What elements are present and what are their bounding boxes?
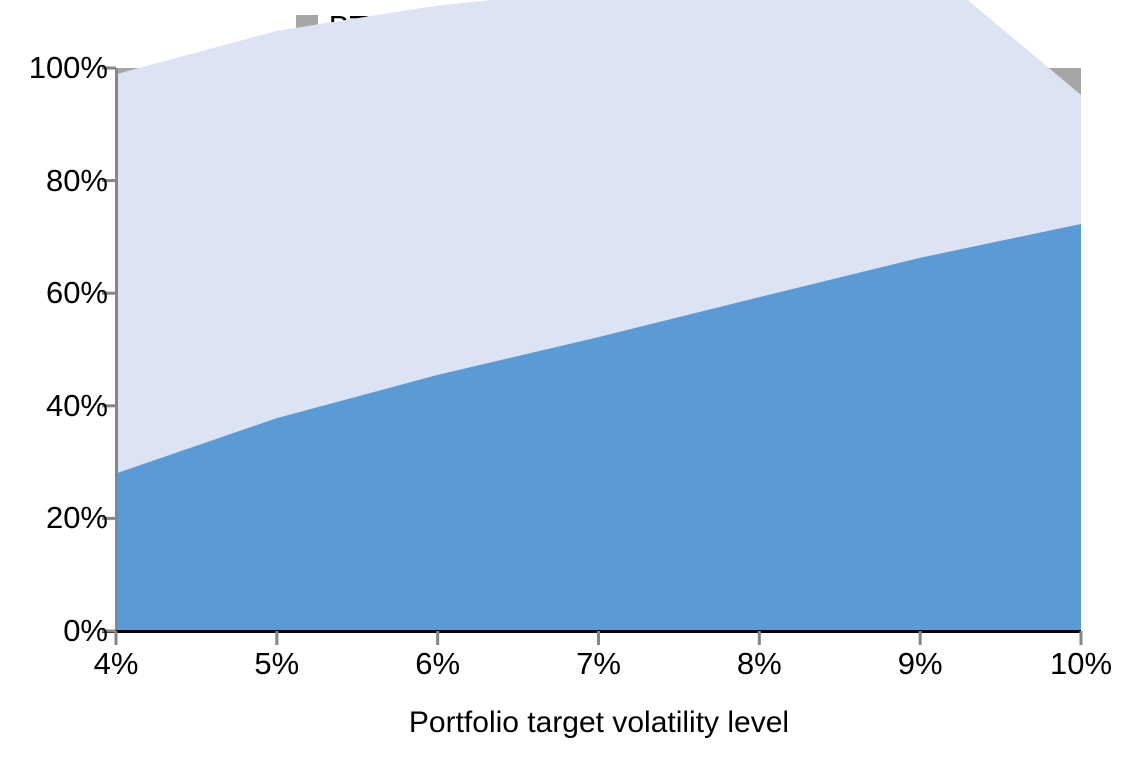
chart-container: BTC USTs US Equities 100%80%60%40%20% (0, 0, 1141, 763)
x-axis-tick-label: 8% (699, 648, 819, 679)
y-axis-tick-label: 0% (0, 615, 108, 646)
y-axis-tick-label: 40% (0, 390, 108, 421)
x-axis-title: Portfolio target volatility level (116, 706, 1082, 740)
x-axis-tick-label: 7% (539, 648, 659, 679)
x-axis-tick-label: 6% (378, 648, 498, 679)
y-axis-tick-label: 20% (0, 502, 108, 533)
x-axis-ticks (116, 631, 1081, 645)
plot-area: 100%80%60%40%20%0% 4%5%6%7%8%9%10% Portf… (0, 0, 1141, 763)
x-axis-tick-label: 4% (56, 648, 176, 679)
area-series-group (116, 0, 1081, 631)
x-axis-tick-label: 10% (1021, 648, 1141, 679)
y-axis-tick-label: 80% (0, 165, 108, 196)
x-axis-tick-label: 9% (860, 648, 980, 679)
x-axis-tick-label: 5% (217, 648, 337, 679)
y-axis-tick-label: 100% (0, 52, 108, 83)
y-axis-tick-label: 60% (0, 277, 108, 308)
